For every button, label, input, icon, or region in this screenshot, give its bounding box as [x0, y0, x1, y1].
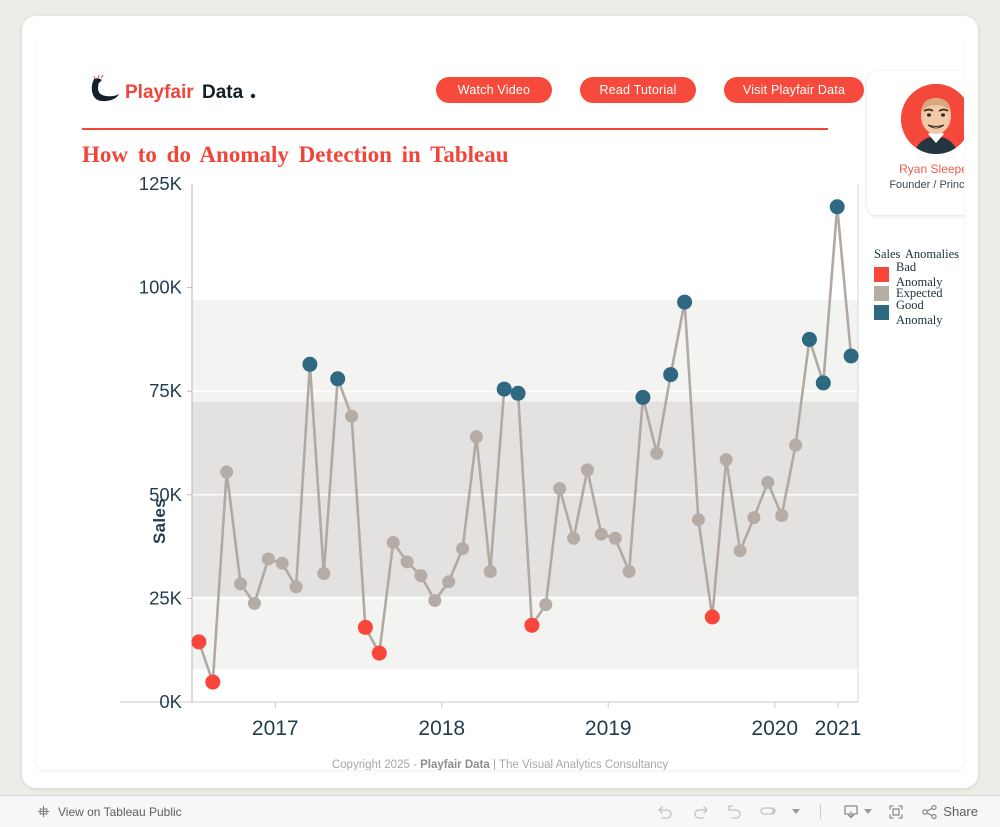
author-role: Founder / Principal [867, 179, 964, 191]
author-card: Ryan Sleeper Founder / Principal [867, 71, 964, 215]
legend-swatch-expected [874, 286, 889, 301]
data-point-expected[interactable] [401, 555, 414, 568]
data-point-good-anomaly[interactable] [635, 390, 650, 405]
data-point-good-anomaly[interactable] [511, 386, 526, 401]
data-point-bad-anomaly[interactable] [372, 646, 387, 661]
data-point-expected[interactable] [317, 567, 330, 580]
data-point-expected[interactable] [428, 594, 441, 607]
tableau-icon [36, 804, 51, 819]
pause-caret-icon[interactable] [792, 809, 800, 814]
data-point-bad-anomaly[interactable] [705, 610, 720, 625]
data-point-bad-anomaly[interactable] [358, 620, 373, 635]
data-point-expected[interactable] [442, 575, 455, 588]
x-tick-label: 2020 [751, 717, 798, 740]
chart-legend: Sales Anomalies Bad Anomaly Expected Goo… [874, 247, 964, 323]
data-point-expected[interactable] [456, 542, 469, 555]
viz-card-outer: Playfair Data Watch Video Read Tutorial … [22, 16, 978, 788]
data-point-good-anomaly[interactable] [497, 382, 512, 397]
chart-canvas[interactable]: 0K25K50K75K100K125K20172018201920202021 [82, 174, 872, 744]
legend-label-good: Good Anomaly [896, 298, 964, 328]
watch-video-button[interactable]: Watch Video [436, 77, 552, 103]
refresh-icon[interactable] [758, 803, 778, 821]
logo-mark-icon: Playfair Data [86, 74, 276, 110]
data-point-expected[interactable] [609, 532, 622, 545]
data-point-expected[interactable] [345, 410, 358, 423]
data-point-good-anomaly[interactable] [663, 367, 678, 382]
data-point-expected[interactable] [553, 482, 566, 495]
data-point-expected[interactable] [720, 453, 733, 466]
data-point-expected[interactable] [276, 557, 289, 570]
playfair-data-logo[interactable]: Playfair Data [86, 74, 276, 110]
y-tick-label: 0K [159, 691, 182, 712]
y-axis-title: Sales [150, 498, 170, 544]
footer-prefix: Copyright 2025 - [332, 759, 420, 770]
data-point-good-anomaly[interactable] [844, 349, 859, 364]
data-point-expected[interactable] [650, 447, 663, 460]
share-button[interactable]: Share [920, 803, 978, 821]
y-tick-label: 125K [139, 174, 183, 194]
y-tick-label: 75K [149, 380, 183, 401]
x-tick-label: 2021 [815, 717, 862, 740]
download-icon[interactable] [841, 803, 872, 821]
data-point-good-anomaly[interactable] [302, 357, 317, 372]
author-name: Ryan Sleeper [867, 162, 964, 176]
data-point-expected[interactable] [747, 511, 760, 524]
fullscreen-icon[interactable] [886, 803, 906, 821]
data-point-good-anomaly[interactable] [330, 371, 345, 386]
legend-swatch-good [874, 305, 889, 320]
legend-item-bad-anomaly[interactable]: Bad Anomaly [874, 266, 964, 283]
data-point-good-anomaly[interactable] [677, 295, 692, 310]
screenshot-root: Playfair Data Watch Video Read Tutorial … [0, 0, 1000, 827]
data-point-expected[interactable] [387, 536, 400, 549]
data-point-expected[interactable] [623, 565, 636, 578]
data-point-expected[interactable] [539, 598, 552, 611]
toolbar-divider [820, 804, 821, 819]
x-tick-label: 2018 [418, 717, 465, 740]
data-point-expected[interactable] [220, 466, 233, 479]
read-tutorial-button[interactable]: Read Tutorial [580, 77, 696, 103]
data-point-good-anomaly[interactable] [830, 199, 845, 214]
undo-icon[interactable] [656, 803, 676, 821]
y-tick-label: 100K [139, 277, 183, 298]
data-point-expected[interactable] [234, 577, 247, 590]
y-tick-label: 25K [149, 587, 183, 608]
chevron-down-icon [864, 809, 872, 814]
viz-card: Playfair Data Watch Video Read Tutorial … [36, 34, 964, 770]
data-point-expected[interactable] [567, 532, 580, 545]
data-point-expected[interactable] [262, 553, 275, 566]
legend-item-good-anomaly[interactable]: Good Anomaly [874, 304, 964, 321]
data-point-expected[interactable] [789, 439, 802, 452]
data-point-good-anomaly[interactable] [802, 332, 817, 347]
redo-icon[interactable] [690, 803, 710, 821]
page-title: How to do Anomaly Detection in Tableau [82, 142, 509, 168]
header-button-row: Watch Video Read Tutorial Visit Playfair… [436, 77, 864, 103]
x-tick-label: 2019 [585, 717, 632, 740]
footer-suffix: | The Visual Analytics Consultancy [490, 759, 668, 770]
data-point-expected[interactable] [595, 528, 608, 541]
svg-text:Playfair: Playfair [125, 82, 194, 103]
avatar [901, 84, 965, 154]
copyright-footer: Copyright 2025 - Playfair Data | The Vis… [36, 759, 964, 770]
anomaly-line-chart[interactable]: Sales 0K25K50K75K100K125K201720182019202… [82, 174, 872, 744]
x-tick-label: 2017 [252, 717, 299, 740]
data-point-bad-anomaly[interactable] [191, 634, 206, 649]
data-point-expected[interactable] [470, 430, 483, 443]
revert-icon[interactable] [724, 803, 744, 821]
toolbar-actions: Share [656, 803, 978, 821]
view-on-tableau-public-label: View on Tableau Public [58, 805, 182, 819]
view-on-tableau-public-button[interactable]: View on Tableau Public [36, 804, 182, 819]
data-point-expected[interactable] [484, 565, 497, 578]
data-point-expected[interactable] [581, 463, 594, 476]
data-point-expected[interactable] [734, 544, 747, 557]
data-point-expected[interactable] [248, 597, 261, 610]
legend-swatch-bad [874, 267, 889, 282]
svg-text:Data: Data [202, 82, 244, 103]
data-point-expected[interactable] [692, 513, 705, 526]
author-avatar-icon [901, 84, 965, 154]
header-divider [82, 128, 828, 130]
bottom-toolbar: View on Tableau Public [0, 795, 1000, 827]
legend-label-bad: Bad Anomaly [896, 260, 964, 290]
data-point-expected[interactable] [761, 476, 774, 489]
share-label: Share [943, 804, 978, 819]
data-point-expected[interactable] [414, 569, 427, 582]
data-point-good-anomaly[interactable] [816, 375, 831, 390]
data-point-bad-anomaly[interactable] [205, 675, 220, 690]
data-point-bad-anomaly[interactable] [524, 618, 539, 633]
visit-playfair-data-button[interactable]: Visit Playfair Data [724, 77, 864, 103]
footer-brand: Playfair Data [420, 759, 490, 770]
chevron-down-icon [792, 809, 800, 814]
data-point-expected[interactable] [775, 509, 788, 522]
data-point-expected[interactable] [290, 580, 303, 593]
